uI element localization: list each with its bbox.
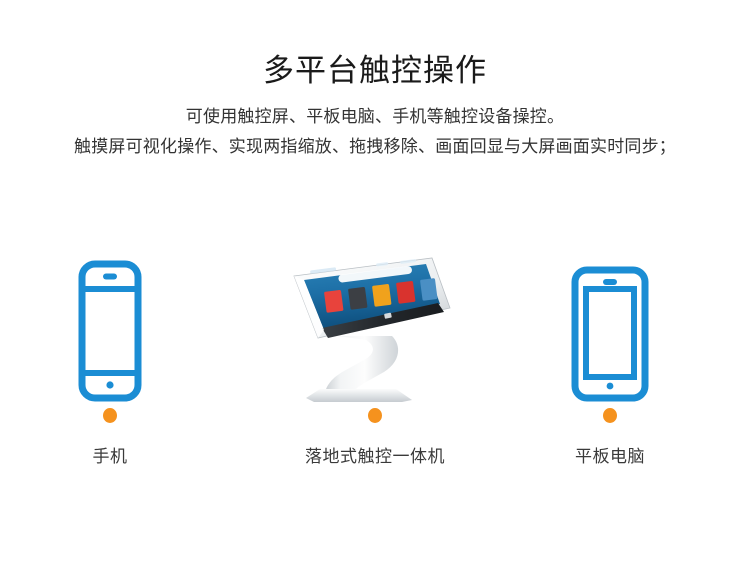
tile-crimson[interactable] (396, 281, 416, 304)
page-title: 多平台触控操作 (0, 0, 750, 90)
marker-dot-tablet (603, 408, 617, 423)
device-label-kiosk: 落地式触控一体机 (275, 446, 475, 468)
tile-dark[interactable] (348, 287, 368, 310)
header: 多平台触控操作 可使用触控屏、平板电脑、手机等触控设备操控。 触摸屏可视化操作、… (0, 0, 750, 162)
label-col-kiosk: 落地式触控一体机 (275, 408, 475, 468)
device-label-phone: 手机 (20, 446, 200, 468)
marker-dot-phone (103, 408, 117, 423)
kiosk-screen-assembly (294, 258, 450, 338)
device-label-row: 手机 落地式触控一体机 平板电脑 (0, 408, 750, 498)
device-slot-tablet (520, 232, 700, 402)
kiosk-photo-wrap (275, 232, 475, 402)
tablet-icon (571, 266, 649, 402)
kiosk-base (306, 389, 412, 402)
floor-standing-touch-kiosk-photo (280, 250, 470, 402)
device-slot-phone (20, 232, 200, 402)
tile-orange[interactable] (372, 284, 392, 307)
smartphone-icon-wrap (20, 232, 200, 402)
smartphone-icon (78, 260, 142, 402)
label-col-tablet: 平板电脑 (520, 408, 700, 468)
subtitle-line-1: 可使用触控屏、平板电脑、手机等触控设备操控。 (0, 102, 750, 132)
label-col-phone: 手机 (20, 408, 200, 468)
device-label-tablet: 平板电脑 (520, 446, 700, 468)
device-slot-kiosk (275, 232, 475, 402)
tile-red[interactable] (324, 290, 344, 313)
tile-blue[interactable] (420, 278, 438, 301)
slide-root: 多平台触控操作 可使用触控屏、平板电脑、手机等触控设备操控。 触摸屏可视化操作、… (0, 0, 750, 571)
subtitle-block: 可使用触控屏、平板电脑、手机等触控设备操控。 触摸屏可视化操作、实现两指缩放、拖… (0, 102, 750, 162)
tablet-icon-wrap (520, 232, 700, 402)
marker-dot-kiosk (368, 408, 382, 423)
device-icon-row (0, 232, 750, 402)
subtitle-line-2: 触摸屏可视化操作、实现两指缩放、拖拽移除、画面回显与大屏画面实时同步； (0, 132, 750, 162)
